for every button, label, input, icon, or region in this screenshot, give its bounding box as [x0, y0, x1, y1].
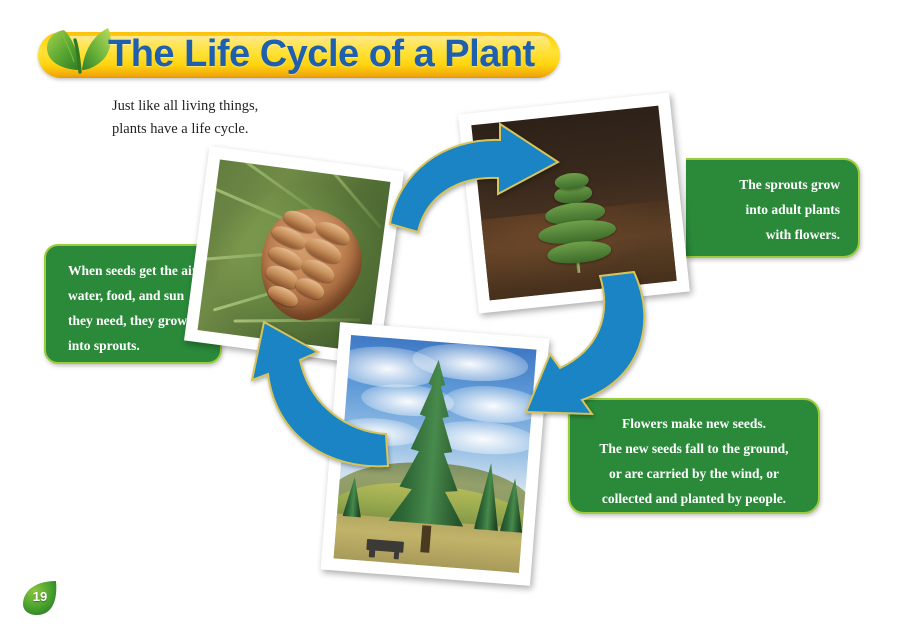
callout-line: water, food, and sun	[68, 283, 206, 308]
callout-line: The sprouts grow	[696, 172, 840, 197]
page-number: 19	[20, 577, 60, 617]
arrow-adult-to-seed	[238, 326, 390, 474]
intro-line-2: plants have a life cycle.	[112, 118, 362, 141]
callout-line: into adult plants	[696, 197, 840, 222]
callout-sprouts: The sprouts grow into adult plants with …	[686, 158, 860, 258]
pine-cone	[240, 194, 377, 336]
page-canvas: The Life Cycle of a Plant Just like all …	[0, 0, 900, 628]
leaf-sprout-icon	[40, 14, 116, 78]
callout-line: collected and planted by people.	[586, 486, 802, 511]
intro-paragraph: Just like all living things, plants have…	[112, 95, 362, 141]
arrow-seed-to-sprout	[388, 128, 574, 240]
page-title: The Life Cycle of a Plant	[108, 26, 535, 82]
intro-line-1: Just like all living things,	[112, 95, 362, 118]
callout-line: When seeds get the air,	[68, 258, 206, 283]
callout-line: The new seeds fall to the ground,	[586, 436, 802, 461]
callout-line: or are carried by the wind, or	[586, 461, 802, 486]
arrow-sprout-to-adult	[516, 272, 664, 424]
callout-line: with flowers.	[696, 222, 840, 247]
